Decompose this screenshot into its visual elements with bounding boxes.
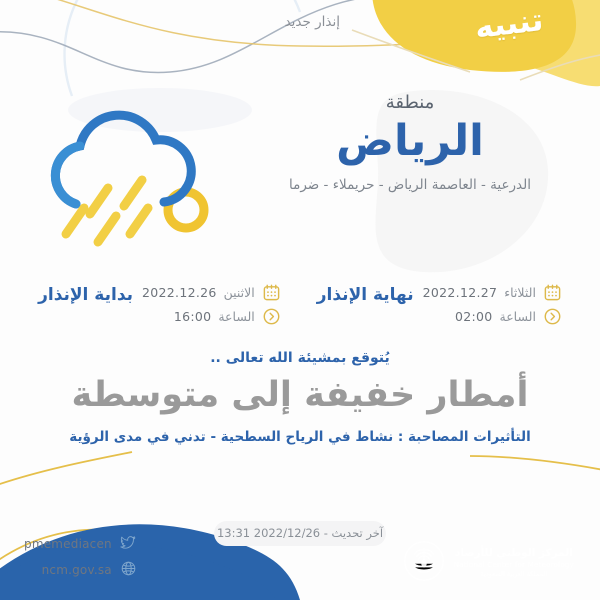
ncm-emblem-icon [403,540,445,586]
alert-badge-label: تنبيه [432,0,585,51]
website-link[interactable]: ncm.gov.sa [24,560,139,579]
forecast-headline: أمطار خفيفة إلى متوسطة [0,375,600,415]
globe-icon [120,560,139,579]
alert-time-section: الثلاثاء 2022.12.27 الساعة 02:00 نهاية ا… [0,283,600,326]
twitter-bird-icon [120,534,139,553]
region-subregions: الدرعية - العاصمة الرياض - حريملاء - ضرم… [240,177,580,193]
forecast-expectation-line: يُتوقع بمشيئة الله تعالى .. [0,350,600,366]
alert-start-block: الاثنين 2022.12.26 الساعة 16:00 بداية ال… [38,283,281,326]
calendar-icon [262,283,281,302]
ncm-name-arabic: المركز الوطني للأرصاد [454,547,574,561]
forecast-impacts: التأثيرات المصاحبة : نشاط في الرياح السط… [0,429,600,445]
alert-end-title: نهاية الإنذار [317,283,414,305]
alert-start-hour-line: الساعة 16:00 [142,307,281,326]
region-name: الرياض [240,115,580,169]
calendar-icon [543,283,562,302]
weather-alert-card: تنبيه إنذار جديد منطقة الرياض الدرعية - … [0,0,600,600]
alert-start-date-line: الاثنين 2022.12.26 [142,283,281,302]
alert-start-hour-word: الساعة [218,309,254,324]
alert-start-hour: 16:00 [174,309,212,324]
alert-end-date-line: الثلاثاء 2022.12.27 [423,283,562,302]
alert-start-date: 2022.12.26 [142,285,217,300]
twitter-link[interactable]: pmemediacen [24,534,139,553]
new-warning-label: إنذار جديد [285,14,340,30]
ncm-country: المملكة العربية السعودية [454,570,574,579]
region-block: منطقة الرياض الدرعية - العاصمة الرياض - … [240,92,580,193]
last-update-badge: آخر تحديث - 2022/12/26 13:31 [214,521,386,546]
alert-end-hour: 02:00 [455,309,493,324]
alert-end-day: الثلاثاء [504,285,536,300]
clock-icon [262,307,281,326]
alert-end-block: الثلاثاء 2022.12.27 الساعة 02:00 نهاية ا… [317,283,562,326]
ncm-logo-text: المركز الوطني للأرصاد National Center fo… [454,547,574,579]
region-label: منطقة [240,92,580,113]
alert-start-title: بداية الإنذار [38,283,133,305]
clock-icon [543,307,562,326]
forecast-section: يُتوقع بمشيئة الله تعالى .. أمطار خفيفة … [0,350,600,445]
alert-start-day: الاثنين [224,285,255,300]
twitter-handle: pmemediacen [24,537,112,551]
social-links: pmemediacen ncm.gov.sa [24,534,139,579]
rain-cloud-sun-icon [18,82,228,272]
alert-end-hour-word: الساعة [500,309,536,324]
ncm-logo: المركز الوطني للأرصاد National Center fo… [403,540,574,586]
alert-end-hour-line: الساعة 02:00 [423,307,562,326]
alert-end-date: 2022.12.27 [423,285,498,300]
website-url: ncm.gov.sa [42,563,112,577]
ncm-name-english: National Center for Meteorology [454,561,574,570]
